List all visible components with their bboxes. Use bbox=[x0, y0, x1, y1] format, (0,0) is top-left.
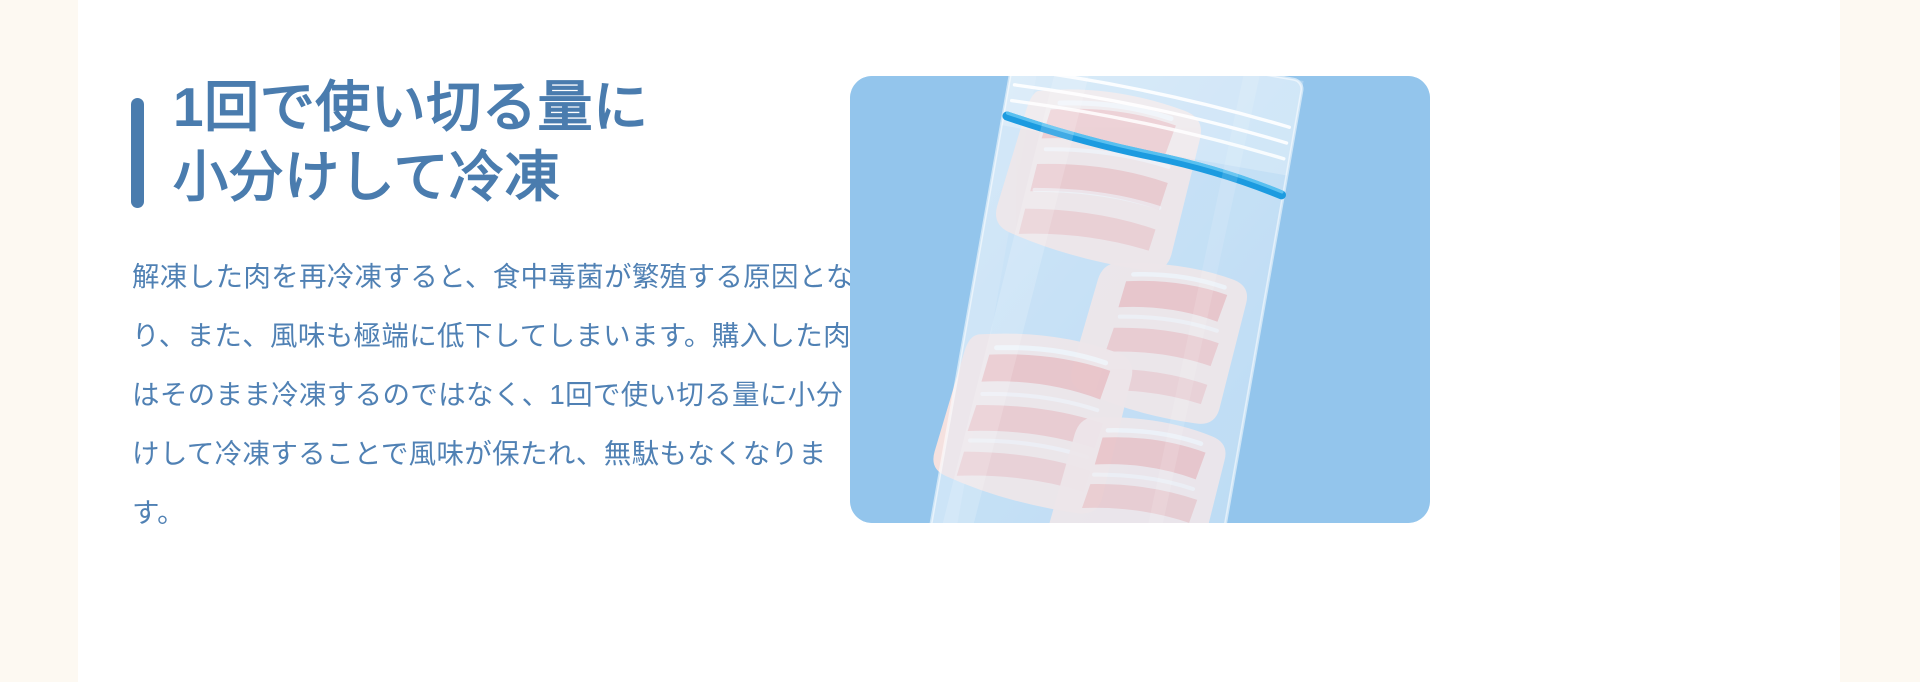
section-container: 1回で使い切る量に 小分けして冷凍 解凍した肉を再冷凍すると、食中毒菌が繁殖する… bbox=[78, 0, 1840, 682]
text-column: 1回で使い切る量に 小分けして冷凍 解凍した肉を再冷凍すると、食中毒菌が繁殖する… bbox=[131, 72, 861, 542]
illustration-card bbox=[850, 76, 1430, 523]
heading-block: 1回で使い切る量に 小分けして冷凍 bbox=[131, 72, 861, 213]
section-heading: 1回で使い切る量に 小分けして冷凍 bbox=[173, 72, 861, 213]
page-root: 1回で使い切る量に 小分けして冷凍 解凍した肉を再冷凍すると、食中毒菌が繁殖する… bbox=[0, 0, 1920, 682]
content-sheet: 1回で使い切る量に 小分けして冷凍 解凍した肉を再冷凍すると、食中毒菌が繁殖する… bbox=[78, 0, 1840, 682]
ziplock-meat-illustration-icon bbox=[850, 76, 1430, 523]
accent-bar-icon bbox=[131, 98, 144, 208]
section-body-text: 解凍した肉を再冷凍すると、食中毒菌が繁殖する原因となり、また、風味も極端に低下し… bbox=[131, 213, 861, 543]
